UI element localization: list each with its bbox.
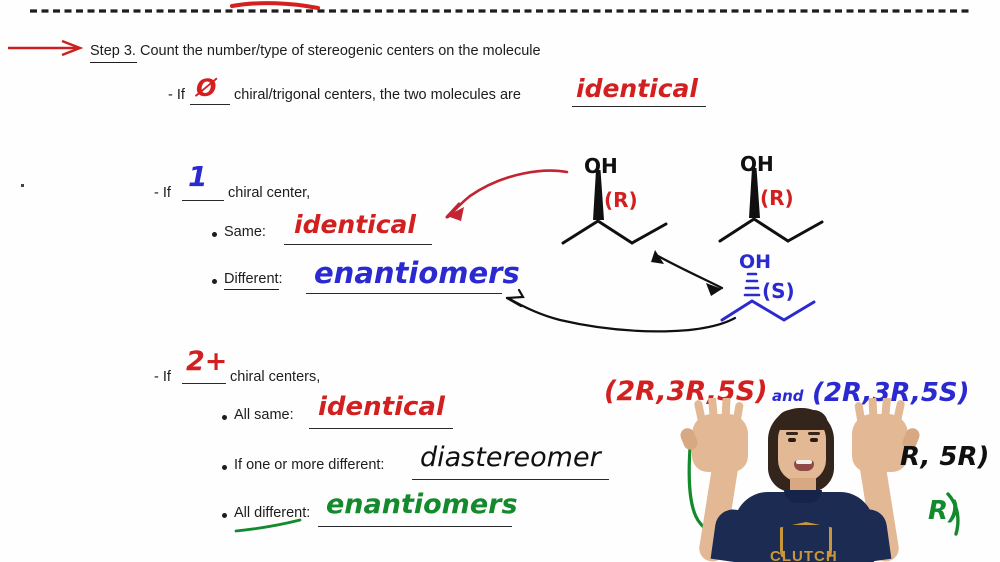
molecule-lower-oh-label: OH	[739, 251, 771, 273]
eye-right	[810, 438, 818, 442]
shirt-logo-text: CLUTCH	[770, 548, 836, 562]
molecule-lower-config-label: (S)	[762, 279, 795, 303]
rule-one-item-1-blank	[306, 293, 502, 294]
shirt-sleeve-left	[711, 507, 762, 562]
rule-one-item-1-label-underline	[224, 289, 279, 290]
rule-two-item-1-blank	[412, 479, 609, 480]
molecule-left-config-label: (R)	[604, 188, 638, 212]
rule-two-item-0-answer: identical	[318, 392, 445, 422]
bullet-icon	[222, 415, 227, 420]
rule-zero-prefix: - If	[168, 88, 185, 104]
rule-zero-answer: identical	[576, 74, 698, 103]
rule-two-suffix: chiral centers,	[230, 370, 320, 386]
eye-left	[788, 438, 796, 442]
bullet-icon	[212, 232, 217, 237]
rule-two-item-2-answer: enantiomers	[326, 489, 518, 520]
molecule-right-config-label: (R)	[760, 186, 794, 210]
left-finger	[708, 398, 718, 423]
rule-two-count-blank	[182, 383, 226, 384]
step-heading: Step 3. Count the number/type of stereog…	[90, 44, 541, 60]
rule-two-item-2-blank	[318, 526, 512, 527]
whiteboard-lecture-slide: Step 3. Count the number/type of stereog…	[0, 0, 1000, 562]
rule-two-prefix: - If	[154, 370, 171, 386]
rule-one-prefix: - If	[154, 186, 171, 202]
red-stroke-above-dashed-rule	[232, 3, 318, 8]
step-label: Step 3	[90, 43, 132, 59]
red-arrow-pointing-right	[8, 41, 80, 55]
black-curved-arrow-to-enantiomers	[507, 290, 735, 331]
rule-two-item-1-answer: diastereomer	[420, 442, 601, 473]
rule-one-item-0-blank	[284, 244, 432, 245]
teeth	[796, 460, 812, 464]
molecule-right-oh-label: OH	[740, 152, 774, 176]
bullet-icon	[222, 465, 227, 470]
bullet-icon	[212, 279, 217, 284]
bullet-icon	[222, 513, 227, 518]
rule-one-count: 1	[188, 160, 207, 193]
rule-two-item-0-label: All same:	[234, 408, 294, 424]
rule-zero-answer-blank	[572, 106, 706, 107]
descriptor-green-partial: R)	[928, 496, 960, 526]
rule-zero-count: Ø	[196, 74, 216, 102]
rule-zero-middle: chiral/trigonal centers, the two molecul…	[234, 88, 521, 104]
brow-left	[786, 432, 798, 435]
right-finger	[868, 398, 877, 423]
step-label-underline	[90, 62, 137, 63]
rule-one-item-0-answer: identical	[294, 210, 416, 239]
molecule-left-oh-label: OH	[584, 154, 618, 178]
rule-two-item-2-label: All different:	[234, 506, 310, 522]
descriptor-black-partial: R, 5R)	[900, 442, 989, 472]
left-finger	[721, 398, 730, 423]
rule-two-count: 2+	[186, 346, 227, 377]
red-curved-arrow-to-same-answer	[447, 171, 567, 221]
rule-two-item-0-blank	[309, 428, 453, 429]
stray-dot	[21, 184, 24, 187]
instructor-video-overlay: CLUTCH	[660, 398, 960, 562]
brow-right	[808, 432, 820, 435]
hair-fringe	[776, 410, 828, 430]
rule-two-item-1-label: If one or more different:	[234, 458, 384, 474]
rule-one-item-1-answer: enantiomers	[314, 256, 520, 290]
rule-one-suffix: chiral center,	[228, 186, 310, 202]
rule-one-item-0-label: Same:	[224, 225, 266, 241]
rule-zero-count-blank	[190, 104, 230, 105]
step-text: . Count the number/type of stereogenic c…	[132, 43, 541, 59]
rule-one-count-blank	[182, 200, 224, 201]
black-arrow-to-lower-molecule	[651, 250, 722, 296]
rule-one-item-1-label: Different:	[224, 272, 283, 288]
